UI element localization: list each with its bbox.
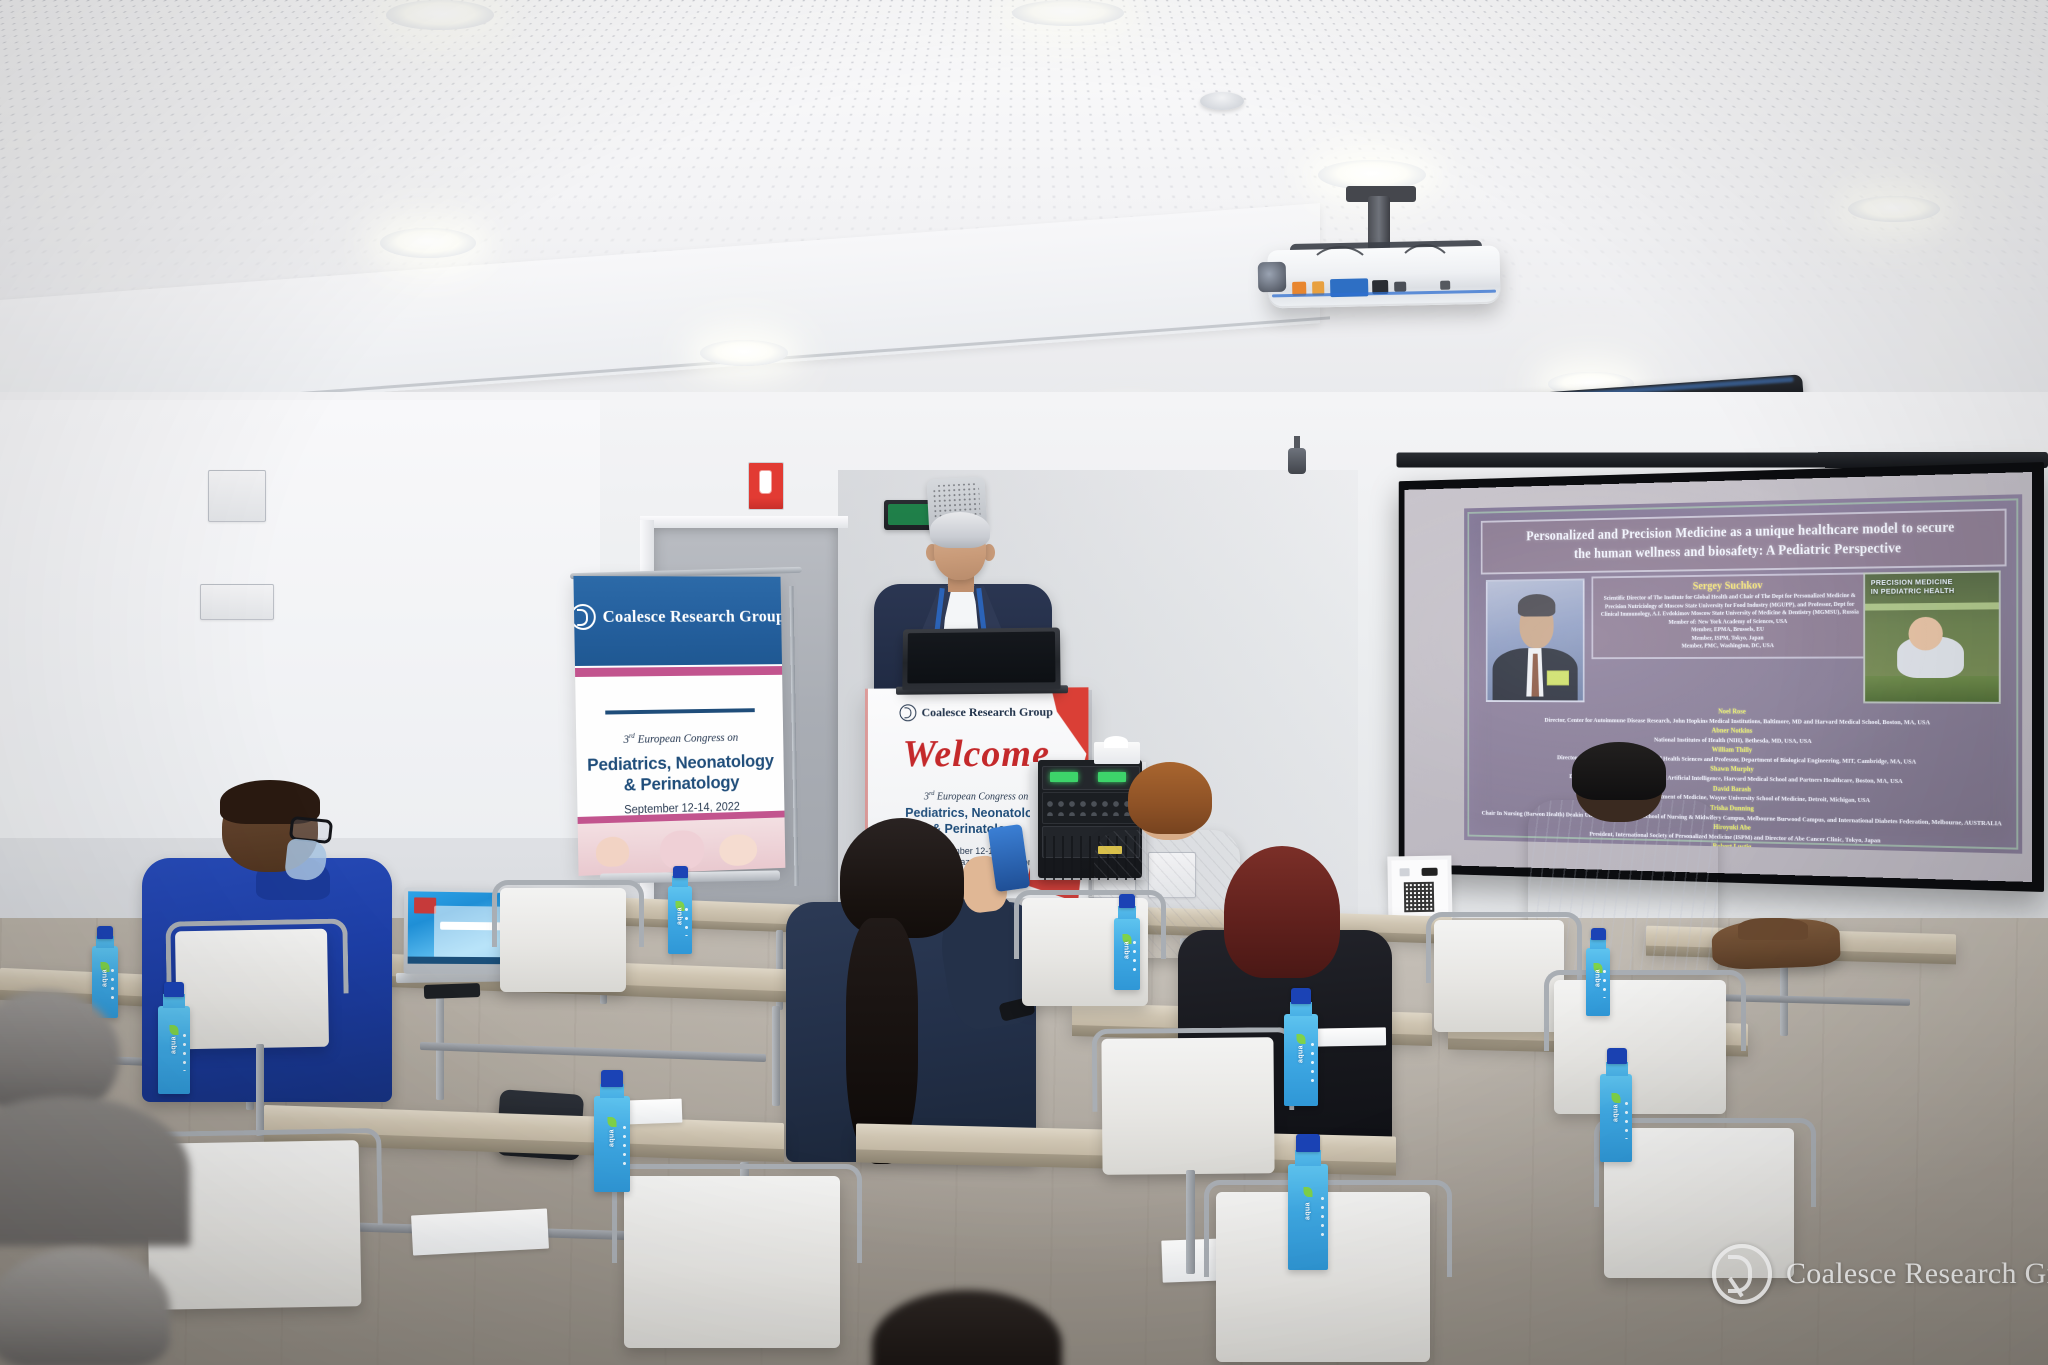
carton-cap	[673, 866, 688, 878]
attendee-white-top-hair	[1128, 762, 1212, 834]
carton-dots	[182, 1031, 187, 1071]
laptop-app-tile	[414, 897, 436, 913]
inset-grass	[1865, 676, 1999, 702]
qr-sign-logo	[1400, 868, 1410, 876]
carton-brand: aqua	[1613, 1104, 1620, 1122]
carton-dots	[1310, 1040, 1315, 1082]
banner-baby-image	[719, 834, 757, 867]
banner-title: Pediatrics, Neonatology & Perinatology	[576, 750, 784, 796]
podium-logo: Coalesce Research Group	[865, 703, 1088, 721]
carton-leaf-icon	[170, 1025, 179, 1035]
slide-title: Personalized and Precision Medicine as a…	[1481, 509, 2007, 575]
carton-dots	[1132, 938, 1137, 971]
foreground-attendee-head	[0, 1248, 170, 1365]
water-carton-icon: aqua	[1284, 1014, 1318, 1106]
water-carton-icon: aqua	[1600, 1074, 1632, 1162]
ceiling-downlight	[386, 0, 494, 30]
water-carton-icon: aqua	[1586, 948, 1610, 1016]
chair-leg	[256, 1044, 264, 1136]
projector-lens	[1258, 262, 1287, 293]
carton-cap	[1607, 1048, 1627, 1064]
carton-brand: aqua	[102, 969, 109, 987]
carton-brand: aqua	[1305, 1202, 1312, 1220]
ceiling-downlight	[700, 340, 788, 366]
speaker-name: Sergey Suchkov	[1598, 578, 1861, 593]
coalesce-cr-monogram-icon	[1712, 1244, 1772, 1304]
chair-frame	[612, 1164, 862, 1263]
chair-frame	[1092, 1027, 1295, 1112]
banner-baby-image	[660, 830, 705, 871]
qr-code-icon	[1404, 882, 1435, 913]
water-carton-icon: aqua	[668, 886, 692, 954]
inset-band	[1865, 602, 1999, 610]
conference-room-photo: Personalized and Precision Medicine as a…	[0, 0, 2048, 1365]
carton-brand: aqua	[677, 907, 684, 925]
carton-cap	[97, 926, 113, 939]
presentation-slide: Personalized and Precision Medicine as a…	[1464, 494, 2022, 854]
chair-frame	[165, 918, 348, 996]
av-knobs	[1046, 798, 1134, 816]
carton-neck	[1295, 1150, 1321, 1166]
carton-cap	[1119, 894, 1135, 908]
attendee-photographer-hair	[840, 818, 964, 938]
carton-cap	[1296, 1134, 1320, 1152]
smoke-detector-icon	[1200, 92, 1244, 110]
fire-extinguisher-sign-icon	[748, 462, 784, 510]
wall-access-plate	[200, 584, 274, 620]
carton-brand: aqua	[609, 1129, 616, 1147]
carton-cap	[164, 982, 184, 997]
carton-leaf-icon	[1304, 1187, 1313, 1197]
coalesce-cr-monogram-icon	[573, 604, 596, 630]
banner-pre-title: 3rd European Congress on	[576, 729, 783, 747]
carton-brand: aqua	[171, 1036, 178, 1054]
presenter-hair	[930, 512, 990, 548]
alcove-header	[640, 516, 848, 528]
speaker-portrait	[1486, 579, 1585, 703]
carton-leaf-icon	[1297, 1034, 1306, 1044]
carton-cap	[1591, 928, 1606, 940]
carton-neck	[1290, 1002, 1312, 1016]
paper-sheet	[1316, 1027, 1386, 1046]
ceiling-downlight	[380, 228, 476, 258]
projector-cable	[1396, 244, 1454, 300]
coalesce-cr-monogram-icon	[900, 704, 917, 721]
banner-rule-top	[605, 708, 755, 714]
water-carton-icon: aqua	[1288, 1164, 1328, 1270]
chair-frame	[1544, 970, 1746, 1051]
projector-cable	[1308, 246, 1372, 296]
speaker-bio-box: Sergey Suchkov Scientific Director of Th…	[1591, 572, 1868, 658]
speaker-bio-text: Scientific Director of The Institute for…	[1598, 592, 1861, 651]
banner-logo: Coalesce Research Group	[574, 604, 781, 630]
chair-frame	[492, 880, 644, 947]
watermark: Coalesce Research Group	[1712, 1238, 2024, 1310]
ceiling-downlight	[1012, 0, 1124, 26]
carton-leaf-icon	[608, 1117, 617, 1127]
av-led-display	[1050, 772, 1078, 782]
tissue-sheet	[1104, 736, 1128, 748]
attendee-pinstripe-hair	[1572, 742, 1666, 800]
qr-sign-badge-icon	[1422, 868, 1438, 876]
carton-neck	[1606, 1062, 1628, 1076]
carton-cap	[601, 1070, 623, 1087]
carton-brand: aqua	[1595, 969, 1602, 987]
paper-sheet	[411, 1208, 549, 1255]
slide-inset-caption: PRECISION MEDICINE IN PEDIATRIC HEALTH	[1865, 576, 2001, 596]
watermark-text: Coalesce Research Group	[1786, 1257, 2048, 1291]
water-carton-icon: aqua	[594, 1096, 630, 1192]
desk-leg	[772, 1006, 780, 1106]
chair-leg	[1186, 1170, 1195, 1274]
carton-dots	[1624, 1099, 1629, 1139]
inset-baby-head	[1909, 617, 1943, 651]
carton-dots	[1602, 967, 1607, 998]
security-camera-icon	[1288, 448, 1306, 474]
slide-inset-image: PRECISION MEDICINE IN PEDIATRIC HEALTH	[1863, 570, 2000, 703]
banner-baby-image	[596, 836, 630, 867]
projection-screen: Personalized and Precision Medicine as a…	[1405, 472, 2032, 882]
carton-dots	[622, 1123, 627, 1167]
carton-dots	[1320, 1194, 1325, 1243]
ceiling-projector-icon	[1267, 246, 1500, 309]
presenter-laptop-screen	[907, 632, 1055, 684]
ceiling-downlight	[1848, 196, 1940, 222]
rollup-banner: Coalesce Research Group 3rd European Con…	[573, 576, 785, 876]
av-led-display	[1098, 772, 1126, 782]
water-carton-icon: aqua	[1114, 918, 1140, 990]
attendee-phone[interactable]	[424, 983, 480, 999]
speaker-membership: Member, PMC, Washington, DC, USA	[1598, 642, 1861, 651]
podium-org-name: Coalesce Research Group	[922, 705, 1053, 721]
presenter-laptop[interactable]	[902, 627, 1060, 690]
wall-access-plate	[208, 470, 266, 522]
carton-leaf-icon	[1612, 1093, 1621, 1103]
chair-frame	[1014, 890, 1166, 959]
carton-cap	[1291, 988, 1311, 1004]
carton-dots	[684, 905, 689, 936]
banner-org-name: Coalesce Research Group	[603, 607, 786, 627]
carton-brand: aqua	[1298, 1045, 1305, 1063]
chair-frame	[1204, 1180, 1452, 1277]
water-carton-icon: aqua	[158, 1006, 190, 1094]
leather-bag-flap	[1738, 918, 1808, 940]
carton-dots	[110, 966, 115, 999]
carton-brand: aqua	[1124, 941, 1131, 959]
inset-caption-line2: IN PEDIATRIC HEALTH	[1871, 586, 2001, 597]
attendee-black-top-hair	[1224, 846, 1340, 978]
speaker-affiliation: Scientific Director of The Institute for…	[1598, 592, 1861, 619]
